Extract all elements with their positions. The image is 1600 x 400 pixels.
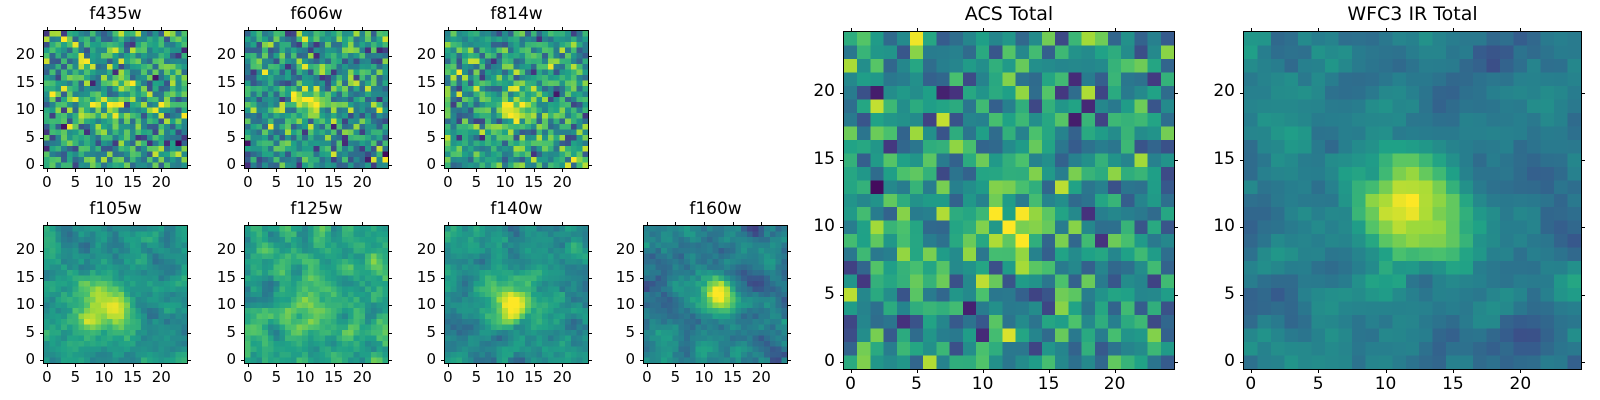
xtick-top-f814w-4 — [562, 27, 563, 31]
panel-title-f125w: f125w — [244, 201, 389, 218]
xtick-label-acs-total-1: 5 — [897, 376, 937, 393]
xtick-f435w-0 — [47, 168, 48, 172]
xtick-f160w-3 — [733, 363, 734, 367]
xtick-f125w-1 — [276, 363, 277, 367]
panel-f435w: f435w0510152005101520 — [0, 0, 1600, 400]
xtick-top-f435w-1 — [75, 27, 76, 31]
ytick-right-f606w-0 — [388, 165, 392, 166]
xtick-top-f105w-4 — [161, 222, 162, 226]
ytick-label-wfc3-ir-total-1: 5 — [1191, 286, 1235, 303]
xtick-wfc3-ir-total-1 — [1318, 369, 1319, 373]
ytick-right-f435w-1 — [187, 138, 191, 139]
heatmap-image-f814w — [445, 31, 588, 168]
ytick-label-acs-total-1: 5 — [791, 286, 835, 303]
ytick-wfc3-ir-total-3 — [1240, 160, 1244, 161]
ytick-right-f606w-2 — [388, 110, 392, 111]
xtick-f160w-0 — [647, 363, 648, 367]
panel-title-f606w: f606w — [244, 6, 389, 23]
ytick-right-wfc3-ir-total-2 — [1581, 227, 1585, 228]
xtick-label-wfc3-ir-total-3: 15 — [1433, 376, 1473, 393]
ytick-f105w-0 — [40, 360, 44, 361]
axes-acs-total — [843, 31, 1175, 370]
ytick-label-f105w-0: 0 — [0, 352, 35, 367]
axes-f105w — [43, 225, 188, 364]
ytick-right-f160w-0 — [787, 360, 791, 361]
xtick-label-f606w-4: 20 — [342, 175, 382, 190]
ytick-wfc3-ir-total-0 — [1240, 362, 1244, 363]
ytick-right-acs-total-3 — [1174, 160, 1178, 161]
xtick-top-f435w-0 — [47, 27, 48, 31]
xtick-f125w-4 — [362, 363, 363, 367]
xtick-label-acs-total-2: 10 — [963, 376, 1003, 393]
xtick-label-f160w-1: 5 — [655, 370, 695, 385]
xtick-top-acs-total-2 — [983, 28, 984, 32]
panel-f125w: f125w0510152005101520 — [0, 0, 1600, 400]
ytick-f105w-1 — [40, 333, 44, 334]
axes-f160w — [643, 225, 788, 364]
ytick-f140w-0 — [441, 360, 445, 361]
ytick-f140w-2 — [441, 305, 445, 306]
ytick-label-f125w-0: 0 — [192, 352, 236, 367]
ytick-right-acs-total-0 — [1174, 362, 1178, 363]
xtick-label-acs-total-0: 0 — [831, 376, 871, 393]
xtick-f140w-2 — [505, 363, 506, 367]
ytick-f606w-1 — [241, 138, 245, 139]
panel-title-f814w: f814w — [444, 6, 589, 23]
xtick-top-wfc3-ir-total-3 — [1453, 28, 1454, 32]
xtick-top-f140w-1 — [476, 222, 477, 226]
xtick-top-acs-total-0 — [851, 28, 852, 32]
xtick-f435w-3 — [133, 168, 134, 172]
ytick-label-acs-total-2: 10 — [791, 218, 835, 235]
xtick-label-wfc3-ir-total-2: 10 — [1366, 376, 1406, 393]
ytick-right-f125w-2 — [388, 305, 392, 306]
xtick-f160w-2 — [704, 363, 705, 367]
xtick-label-f125w-3: 15 — [314, 370, 354, 385]
xtick-f606w-0 — [248, 168, 249, 172]
ytick-f606w-4 — [241, 56, 245, 57]
ytick-acs-total-3 — [840, 160, 844, 161]
xtick-f140w-3 — [534, 363, 535, 367]
xtick-top-acs-total-1 — [917, 28, 918, 32]
xtick-top-f606w-0 — [248, 27, 249, 31]
xtick-f435w-4 — [161, 168, 162, 172]
xtick-label-f814w-2: 10 — [485, 175, 525, 190]
ytick-label-f606w-0: 0 — [192, 157, 236, 172]
ytick-right-f105w-2 — [187, 305, 191, 306]
xtick-f140w-0 — [448, 363, 449, 367]
xtick-label-f160w-3: 15 — [713, 370, 753, 385]
ytick-right-f140w-2 — [588, 305, 592, 306]
xtick-label-f105w-0: 0 — [27, 370, 67, 385]
xtick-top-f140w-0 — [448, 222, 449, 226]
xtick-label-f125w-4: 20 — [342, 370, 382, 385]
ytick-wfc3-ir-total-2 — [1240, 227, 1244, 228]
xtick-top-f125w-2 — [305, 222, 306, 226]
ytick-label-f814w-0: 0 — [392, 157, 436, 172]
xtick-f435w-1 — [75, 168, 76, 172]
ytick-right-f160w-3 — [787, 278, 791, 279]
xtick-top-f160w-4 — [761, 222, 762, 226]
xtick-label-f105w-3: 15 — [113, 370, 153, 385]
xtick-top-f606w-3 — [334, 27, 335, 31]
xtick-label-f160w-0: 0 — [627, 370, 667, 385]
xtick-label-f435w-1: 5 — [55, 175, 95, 190]
xtick-label-wfc3-ir-total-1: 5 — [1298, 376, 1338, 393]
xtick-acs-total-4 — [1115, 369, 1116, 373]
xtick-acs-total-2 — [983, 369, 984, 373]
ytick-right-f125w-0 — [388, 360, 392, 361]
xtick-label-f125w-0: 0 — [228, 370, 268, 385]
xtick-label-f105w-4: 20 — [141, 370, 181, 385]
xtick-label-f140w-2: 10 — [485, 370, 525, 385]
xtick-label-f140w-0: 0 — [428, 370, 468, 385]
heatmap-image-f435w — [44, 31, 187, 168]
ytick-right-f125w-4 — [388, 251, 392, 252]
ytick-f125w-2 — [241, 305, 245, 306]
xtick-f160w-4 — [761, 363, 762, 367]
xtick-label-f814w-0: 0 — [428, 175, 468, 190]
ytick-right-f814w-1 — [588, 138, 592, 139]
xtick-label-f435w-0: 0 — [27, 175, 67, 190]
ytick-f105w-4 — [40, 251, 44, 252]
panel-title-f435w: f435w — [43, 6, 188, 23]
panel-f160w: f160w0510152005101520 — [0, 0, 1600, 400]
ytick-label-f160w-3: 15 — [591, 270, 635, 285]
ytick-f160w-2 — [640, 305, 644, 306]
xtick-wfc3-ir-total-2 — [1386, 369, 1387, 373]
ytick-right-f105w-3 — [187, 278, 191, 279]
ytick-label-f125w-2: 10 — [192, 297, 236, 312]
xtick-wfc3-ir-total-4 — [1520, 369, 1521, 373]
xtick-label-f140w-4: 20 — [542, 370, 582, 385]
ytick-label-f606w-1: 5 — [192, 130, 236, 145]
xtick-top-f140w-3 — [534, 222, 535, 226]
xtick-top-wfc3-ir-total-1 — [1318, 28, 1319, 32]
xtick-top-f160w-1 — [675, 222, 676, 226]
ytick-label-f105w-2: 10 — [0, 297, 35, 312]
xtick-f814w-1 — [476, 168, 477, 172]
xtick-f105w-1 — [75, 363, 76, 367]
xtick-label-f160w-4: 20 — [741, 370, 781, 385]
xtick-top-wfc3-ir-total-4 — [1520, 28, 1521, 32]
xtick-acs-total-3 — [1049, 369, 1050, 373]
ytick-label-f435w-3: 15 — [0, 75, 35, 90]
ytick-right-wfc3-ir-total-0 — [1581, 362, 1585, 363]
ytick-right-f125w-1 — [388, 333, 392, 334]
panel-wfc3-ir-total: WFC3 IR Total0510152005101520 — [0, 0, 1600, 400]
axes-f140w — [444, 225, 589, 364]
ytick-label-f125w-1: 5 — [192, 325, 236, 340]
xtick-label-f160w-2: 10 — [684, 370, 724, 385]
ytick-right-f435w-4 — [187, 56, 191, 57]
xtick-top-f160w-3 — [733, 222, 734, 226]
xtick-top-wfc3-ir-total-0 — [1251, 28, 1252, 32]
ytick-acs-total-2 — [840, 227, 844, 228]
xtick-label-f105w-1: 5 — [55, 370, 95, 385]
xtick-f606w-2 — [305, 168, 306, 172]
ytick-label-f140w-0: 0 — [392, 352, 436, 367]
xtick-f105w-0 — [47, 363, 48, 367]
ytick-label-wfc3-ir-total-3: 15 — [1191, 151, 1235, 168]
xtick-top-wfc3-ir-total-2 — [1386, 28, 1387, 32]
heatmap-image-f160w — [644, 226, 787, 363]
xtick-label-f125w-1: 5 — [256, 370, 296, 385]
ytick-f814w-4 — [441, 56, 445, 57]
xtick-top-f814w-0 — [448, 27, 449, 31]
ytick-label-acs-total-0: 0 — [791, 353, 835, 370]
ytick-f140w-3 — [441, 278, 445, 279]
xtick-top-f125w-4 — [362, 222, 363, 226]
xtick-label-wfc3-ir-total-4: 20 — [1500, 376, 1540, 393]
ytick-f435w-4 — [40, 56, 44, 57]
ytick-right-f606w-1 — [388, 138, 392, 139]
xtick-top-f125w-0 — [248, 222, 249, 226]
ytick-right-acs-total-1 — [1174, 295, 1178, 296]
xtick-label-f606w-3: 15 — [314, 175, 354, 190]
xtick-top-f435w-4 — [161, 27, 162, 31]
xtick-f125w-3 — [334, 363, 335, 367]
ytick-right-f140w-4 — [588, 251, 592, 252]
xtick-top-f606w-1 — [276, 27, 277, 31]
xtick-top-f125w-3 — [334, 222, 335, 226]
ytick-right-f814w-4 — [588, 56, 592, 57]
panel-title-f105w: f105w — [43, 201, 188, 218]
ytick-right-f160w-4 — [787, 251, 791, 252]
xtick-top-f105w-3 — [133, 222, 134, 226]
ytick-label-wfc3-ir-total-2: 10 — [1191, 218, 1235, 235]
heatmap-image-f105w — [44, 226, 187, 363]
ytick-label-f160w-4: 20 — [591, 242, 635, 257]
xtick-label-f606w-0: 0 — [228, 175, 268, 190]
axes-f814w — [444, 30, 589, 169]
xtick-label-f435w-2: 10 — [84, 175, 124, 190]
ytick-label-f814w-4: 20 — [392, 47, 436, 62]
xtick-top-acs-total-3 — [1049, 28, 1050, 32]
ytick-label-f160w-0: 0 — [591, 352, 635, 367]
xtick-top-f814w-2 — [505, 27, 506, 31]
ytick-label-f814w-2: 10 — [392, 102, 436, 117]
xtick-top-f160w-2 — [704, 222, 705, 226]
ytick-label-wfc3-ir-total-4: 20 — [1191, 83, 1235, 100]
ytick-f140w-1 — [441, 333, 445, 334]
xtick-label-acs-total-4: 20 — [1095, 376, 1135, 393]
panel-f105w: f105w0510152005101520 — [0, 0, 1600, 400]
ytick-f435w-2 — [40, 110, 44, 111]
ytick-right-f140w-0 — [588, 360, 592, 361]
xtick-label-acs-total-3: 15 — [1029, 376, 1069, 393]
xtick-top-f105w-1 — [75, 222, 76, 226]
ytick-f814w-2 — [441, 110, 445, 111]
xtick-label-f606w-1: 5 — [256, 175, 296, 190]
ytick-f606w-3 — [241, 83, 245, 84]
ytick-f606w-0 — [241, 165, 245, 166]
heatmap-image-wfc3-ir-total — [1244, 32, 1581, 369]
ytick-f105w-2 — [40, 305, 44, 306]
heatmap-image-f140w — [445, 226, 588, 363]
ytick-label-f140w-4: 20 — [392, 242, 436, 257]
ytick-f160w-4 — [640, 251, 644, 252]
ytick-label-acs-total-4: 20 — [791, 83, 835, 100]
ytick-f125w-0 — [241, 360, 245, 361]
xtick-top-f140w-2 — [505, 222, 506, 226]
ytick-label-f435w-4: 20 — [0, 47, 35, 62]
figure-canvas: f435w0510152005101520f606w05101520051015… — [0, 0, 1600, 400]
ytick-f435w-3 — [40, 83, 44, 84]
xtick-top-f606w-4 — [362, 27, 363, 31]
ytick-f814w-0 — [441, 165, 445, 166]
ytick-f125w-1 — [241, 333, 245, 334]
ytick-f814w-3 — [441, 83, 445, 84]
xtick-f435w-2 — [104, 168, 105, 172]
ytick-right-wfc3-ir-total-1 — [1581, 295, 1585, 296]
panel-f606w: f606w0510152005101520 — [0, 0, 1600, 400]
ytick-right-f160w-1 — [787, 333, 791, 334]
ytick-label-f606w-2: 10 — [192, 102, 236, 117]
xtick-f160w-1 — [675, 363, 676, 367]
ytick-f814w-1 — [441, 138, 445, 139]
xtick-f105w-2 — [104, 363, 105, 367]
ytick-label-f125w-3: 15 — [192, 270, 236, 285]
ytick-right-f814w-3 — [588, 83, 592, 84]
xtick-f606w-3 — [334, 168, 335, 172]
ytick-right-f606w-3 — [388, 83, 392, 84]
panel-title-f160w: f160w — [643, 201, 788, 218]
ytick-acs-total-1 — [840, 295, 844, 296]
ytick-f606w-2 — [241, 110, 245, 111]
ytick-right-wfc3-ir-total-4 — [1581, 93, 1585, 94]
ytick-label-f435w-2: 10 — [0, 102, 35, 117]
xtick-acs-total-1 — [917, 369, 918, 373]
xtick-top-acs-total-4 — [1115, 28, 1116, 32]
xtick-acs-total-0 — [851, 369, 852, 373]
ytick-label-f814w-1: 5 — [392, 130, 436, 145]
ytick-right-f435w-0 — [187, 165, 191, 166]
ytick-acs-total-4 — [840, 93, 844, 94]
xtick-label-f105w-2: 10 — [84, 370, 124, 385]
ytick-label-f606w-3: 15 — [192, 75, 236, 90]
panel-title-acs-total: ACS Total — [843, 5, 1175, 24]
ytick-wfc3-ir-total-4 — [1240, 93, 1244, 94]
xtick-f814w-4 — [562, 168, 563, 172]
xtick-label-wfc3-ir-total-0: 0 — [1231, 376, 1271, 393]
ytick-f125w-3 — [241, 278, 245, 279]
ytick-f435w-0 — [40, 165, 44, 166]
ytick-label-f105w-1: 5 — [0, 325, 35, 340]
xtick-label-f435w-3: 15 — [113, 175, 153, 190]
ytick-right-f125w-3 — [388, 278, 392, 279]
ytick-right-f435w-2 — [187, 110, 191, 111]
axes-f435w — [43, 30, 188, 169]
xtick-label-f814w-1: 5 — [456, 175, 496, 190]
panel-f814w: f814w0510152005101520 — [0, 0, 1600, 400]
panel-acs-total: ACS Total0510152005101520 — [0, 0, 1600, 400]
ytick-right-acs-total-2 — [1174, 227, 1178, 228]
ytick-f105w-3 — [40, 278, 44, 279]
ytick-acs-total-0 — [840, 362, 844, 363]
ytick-label-wfc3-ir-total-0: 0 — [1191, 353, 1235, 370]
ytick-f160w-0 — [640, 360, 644, 361]
ytick-label-f160w-1: 5 — [591, 325, 635, 340]
ytick-label-f435w-1: 5 — [0, 130, 35, 145]
ytick-f160w-3 — [640, 278, 644, 279]
xtick-f125w-2 — [305, 363, 306, 367]
axes-wfc3-ir-total — [1243, 31, 1582, 370]
xtick-f105w-3 — [133, 363, 134, 367]
axes-f125w — [244, 225, 389, 364]
xtick-wfc3-ir-total-0 — [1251, 369, 1252, 373]
heatmap-image-f606w — [245, 31, 388, 168]
ytick-right-f814w-0 — [588, 165, 592, 166]
ytick-f140w-4 — [441, 251, 445, 252]
xtick-f125w-0 — [248, 363, 249, 367]
xtick-label-f814w-3: 15 — [514, 175, 554, 190]
xtick-label-f140w-3: 15 — [514, 370, 554, 385]
xtick-top-f160w-0 — [647, 222, 648, 226]
xtick-f814w-0 — [448, 168, 449, 172]
ytick-right-f105w-1 — [187, 333, 191, 334]
ytick-right-f140w-3 — [588, 278, 592, 279]
ytick-label-f105w-4: 20 — [0, 242, 35, 257]
ytick-f125w-4 — [241, 251, 245, 252]
ytick-label-f814w-3: 15 — [392, 75, 436, 90]
xtick-top-f125w-1 — [276, 222, 277, 226]
ytick-label-f105w-3: 15 — [0, 270, 35, 285]
xtick-label-f125w-2: 10 — [285, 370, 325, 385]
xtick-top-f105w-2 — [104, 222, 105, 226]
ytick-label-f140w-2: 10 — [392, 297, 436, 312]
xtick-f140w-1 — [476, 363, 477, 367]
panel-f140w: f140w0510152005101520 — [0, 0, 1600, 400]
xtick-f105w-4 — [161, 363, 162, 367]
ytick-right-f140w-1 — [588, 333, 592, 334]
ytick-label-f125w-4: 20 — [192, 242, 236, 257]
panel-title-wfc3-ir-total: WFC3 IR Total — [1243, 5, 1582, 24]
ytick-right-f105w-0 — [187, 360, 191, 361]
axes-f606w — [244, 30, 389, 169]
ytick-right-f814w-2 — [588, 110, 592, 111]
ytick-right-f435w-3 — [187, 83, 191, 84]
ytick-f435w-1 — [40, 138, 44, 139]
ytick-right-wfc3-ir-total-3 — [1581, 160, 1585, 161]
xtick-label-f435w-4: 20 — [141, 175, 181, 190]
xtick-label-f140w-1: 5 — [456, 370, 496, 385]
panel-title-f140w: f140w — [444, 201, 589, 218]
ytick-label-f140w-3: 15 — [392, 270, 436, 285]
xtick-top-f105w-0 — [47, 222, 48, 226]
heatmap-image-f125w — [245, 226, 388, 363]
xtick-top-f140w-4 — [562, 222, 563, 226]
xtick-wfc3-ir-total-3 — [1453, 369, 1454, 373]
heatmap-image-acs-total — [844, 32, 1174, 369]
xtick-top-f435w-3 — [133, 27, 134, 31]
ytick-label-f435w-0: 0 — [0, 157, 35, 172]
ytick-wfc3-ir-total-1 — [1240, 295, 1244, 296]
xtick-f606w-1 — [276, 168, 277, 172]
ytick-label-f140w-1: 5 — [392, 325, 436, 340]
ytick-label-acs-total-3: 15 — [791, 151, 835, 168]
ytick-right-acs-total-4 — [1174, 93, 1178, 94]
xtick-label-f606w-2: 10 — [285, 175, 325, 190]
xtick-top-f814w-3 — [534, 27, 535, 31]
ytick-right-f105w-4 — [187, 251, 191, 252]
xtick-f814w-3 — [534, 168, 535, 172]
xtick-top-f435w-2 — [104, 27, 105, 31]
xtick-top-f606w-2 — [305, 27, 306, 31]
xtick-f140w-4 — [562, 363, 563, 367]
ytick-right-f606w-4 — [388, 56, 392, 57]
ytick-right-f160w-2 — [787, 305, 791, 306]
